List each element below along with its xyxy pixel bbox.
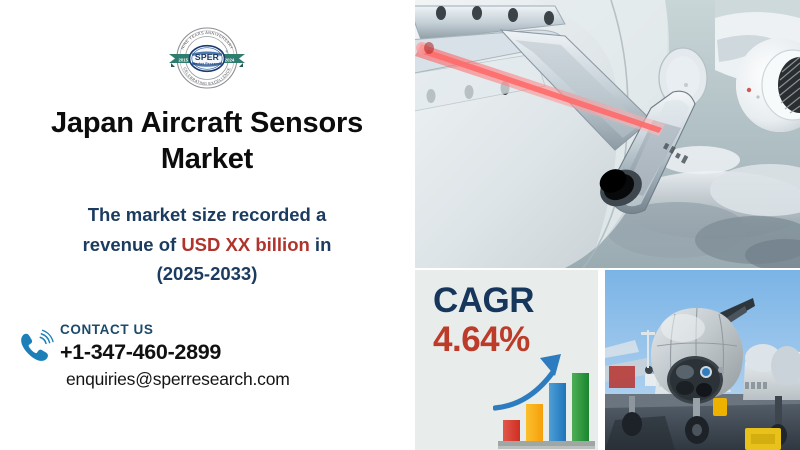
bar-3 bbox=[549, 383, 566, 441]
cagr-panel: CAGR 4.64% bbox=[415, 270, 598, 450]
subtitle-forecast-period: (2025-2033) bbox=[157, 263, 258, 284]
left-info-panel: NINE YEARS ANNIVERSARY CELEBRATING EXCEL… bbox=[0, 0, 414, 450]
sper-logo: NINE YEARS ANNIVERSARY CELEBRATING EXCEL… bbox=[159, 26, 255, 90]
contact-phone-number[interactable]: +1-347-460-2899 bbox=[60, 339, 290, 366]
subtitle-line-1: The market size recorded a bbox=[88, 204, 327, 225]
contact-us-label: CONTACT US bbox=[60, 322, 290, 337]
svg-text:®: ® bbox=[226, 50, 228, 54]
contact-email-address[interactable]: enquiries@sperresearch.com bbox=[66, 369, 290, 390]
svg-text:2024: 2024 bbox=[225, 58, 235, 63]
contact-block: CONTACT US +1-347-460-2899 enquiries@spe… bbox=[16, 322, 414, 390]
aircraft-laser-sensor-pod-photo bbox=[415, 0, 800, 268]
page-title: Japan Aircraft Sensors Market bbox=[24, 106, 390, 178]
sper-anniversary-badge-icon: NINE YEARS ANNIVERSARY CELEBRATING EXCEL… bbox=[159, 26, 255, 90]
contact-text-group: CONTACT US +1-347-460-2899 enquiries@spe… bbox=[60, 322, 290, 390]
subtitle-accent-value: USD XX billion bbox=[181, 234, 309, 255]
subtitle-line-2-prefix: revenue of bbox=[83, 234, 182, 255]
subtitle-line-2-suffix: in bbox=[310, 234, 332, 255]
bar-4 bbox=[572, 373, 589, 441]
cagr-label: CAGR bbox=[433, 281, 534, 321]
aircraft-nose-sensor-turret-photo bbox=[605, 270, 800, 450]
svg-text:Market Research: Market Research bbox=[193, 62, 222, 66]
growth-bar-chart bbox=[493, 332, 598, 450]
svg-text:2015: 2015 bbox=[179, 58, 189, 63]
svg-text:SPER: SPER bbox=[195, 52, 220, 62]
market-size-statement: The market size recorded a revenue of US… bbox=[27, 200, 387, 289]
phone-icon bbox=[16, 328, 56, 372]
market-report-banner: NINE YEARS ANNIVERSARY CELEBRATING EXCEL… bbox=[0, 0, 800, 450]
bar-1 bbox=[503, 420, 520, 441]
bar-2 bbox=[526, 404, 543, 441]
